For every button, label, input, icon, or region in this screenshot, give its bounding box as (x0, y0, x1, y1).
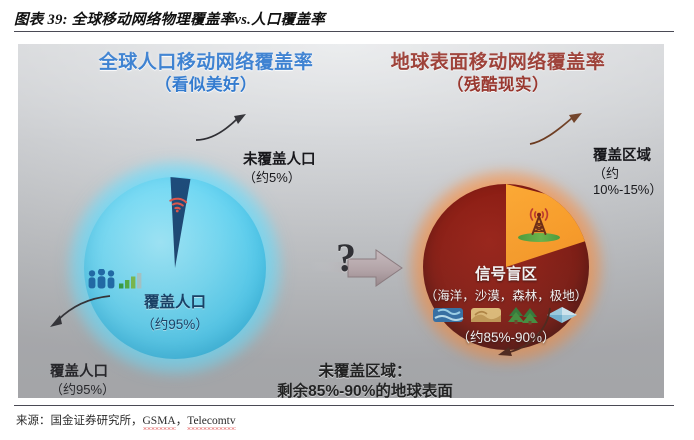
right-heading-sub: （残酷现实） (348, 76, 648, 95)
no-wifi-icon (166, 194, 190, 214)
left-pie-chart: 覆盖人口 （约95%） (84, 177, 266, 359)
right-heading-main: 地球表面移动网络覆盖率 (348, 52, 648, 74)
ocean-icon (433, 308, 463, 322)
source-tag-gsma: GSMA (143, 415, 176, 430)
title-divider (14, 31, 674, 32)
right-arrow-icon (310, 240, 416, 296)
caption-line-2: 剩余85%-90%的地球表面 (230, 382, 500, 398)
source-prefix: 来源：国金证券研究所， (16, 415, 143, 427)
source-line: 来源：国金证券研究所，GSMA，Telecomtv (16, 412, 236, 428)
callout-uncovered-population: 未覆盖人口 （约5%） (243, 152, 316, 186)
source-divider (14, 405, 674, 406)
left-heading-sub: （看似美好） (56, 76, 356, 95)
right-inner-title: 信号盲区 (401, 262, 611, 284)
callout-covered-area: 覆盖区域 （约10%-15%） (593, 148, 664, 197)
source-separator: ， (176, 415, 188, 427)
uncovered-area-arrow (488, 306, 560, 368)
figure-image-panel: 全球人口移动网络覆盖率 （看似美好） 地球表面移动网络覆盖率 （残酷现实） (18, 44, 664, 398)
callout-uncovered-title: 未覆盖人口 (243, 152, 316, 170)
callout-covered-area-value: （约10%-15%） (593, 166, 664, 198)
right-inner-subtitle: （海洋，沙漠，森林，极地） (401, 285, 611, 304)
transition-arrow: ? (310, 240, 416, 296)
cell-tower-icon (519, 200, 559, 240)
figure-title: 图表 39: 全球移动网络物理覆盖率vs.人口覆盖率 (14, 8, 674, 29)
question-mark-label: ? (336, 238, 356, 278)
covered-area-arrow (526, 102, 592, 146)
callout-uncovered-value: （约5%） (243, 170, 316, 186)
exhibit-figure: 图表 39: 全球移动网络物理覆盖率vs.人口覆盖率 全球人口移动网络覆盖率 （… (0, 0, 694, 440)
callout-covered-population: 覆盖人口 （约95%） (50, 364, 115, 398)
source-tag-telecomtv: Telecomtv (187, 415, 235, 430)
uncovered-pop-arrow (194, 106, 256, 142)
callout-covered-pop-value: （约95%） (50, 382, 115, 398)
left-heading-main: 全球人口移动网络覆盖率 (56, 52, 356, 74)
people-signal-icon (84, 269, 266, 289)
callout-covered-area-title: 覆盖区域 (593, 148, 664, 166)
caption-line-1: 未覆盖区域： (230, 362, 500, 382)
left-chart-heading: 全球人口移动网络覆盖率 （看似美好） (56, 52, 356, 96)
callout-covered-pop-title: 覆盖人口 (50, 364, 115, 382)
bottom-caption: 未覆盖区域： 剩余85%-90%的地球表面 是完全的“信号盲区”。 (230, 362, 500, 398)
covered-pop-arrow (36, 294, 112, 330)
right-chart-heading: 地球表面移动网络覆盖率 （残酷现实） (348, 52, 648, 96)
